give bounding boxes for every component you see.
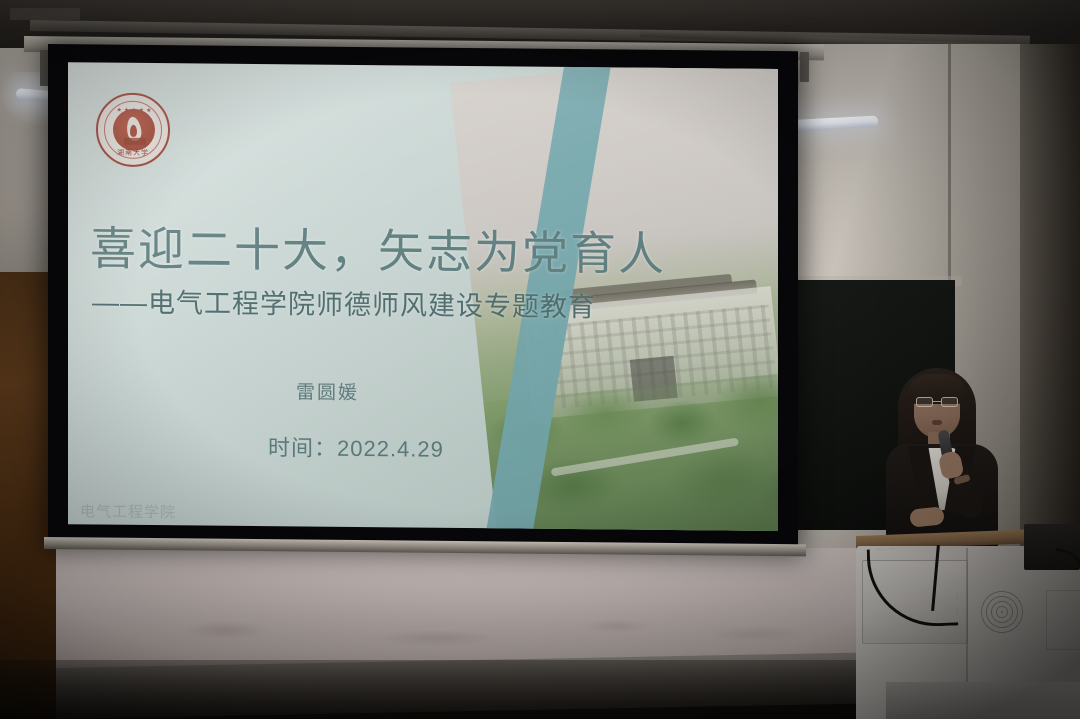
emblem-flame-core [130,125,137,137]
slide-subtitle: ——电气工程学院师德师风建设专题教育 [92,280,672,325]
podium-speaker-grille-icon [978,588,1026,636]
podium-base [886,682,1080,719]
eyeglass-lens-left [916,397,933,407]
podium-lower-panel [1046,590,1080,650]
presentation-slide: ★★★★★ 湖南大学 喜迎二十大，矢志为党育人 ——电气工程学院师德师风建设专题… [68,62,778,531]
presenter-eyeglasses-icon [916,397,958,407]
university-emblem-icon: ★★★★★ 湖南大学 [96,92,170,167]
presenter-mouth [932,420,942,425]
ceiling-vent [10,8,80,20]
screenshot-scene: ★★★★★ 湖南大学 喜迎二十大，矢志为党育人 ——电气工程学院师德师风建设专题… [0,0,1080,719]
eyeglass-lens-right [941,397,958,407]
eyeglass-bridge [933,401,941,402]
slide-presenter-name: 雷圆媛 [296,377,359,405]
projection-screen: ★★★★★ 湖南大学 喜迎二十大，矢志为党育人 ——电气工程学院师德师风建设专题… [48,44,798,551]
screen-bracket-right [800,52,809,82]
slide-title: 喜迎二十大，矢志为党育人 [90,212,650,283]
slide-date: 时间：2022.4.29 [268,430,444,464]
emblem-name-text: 湖南大学 [98,147,168,158]
slide-footer-text: 电气工程学院 [80,500,176,522]
emblem-year-band [124,138,146,145]
